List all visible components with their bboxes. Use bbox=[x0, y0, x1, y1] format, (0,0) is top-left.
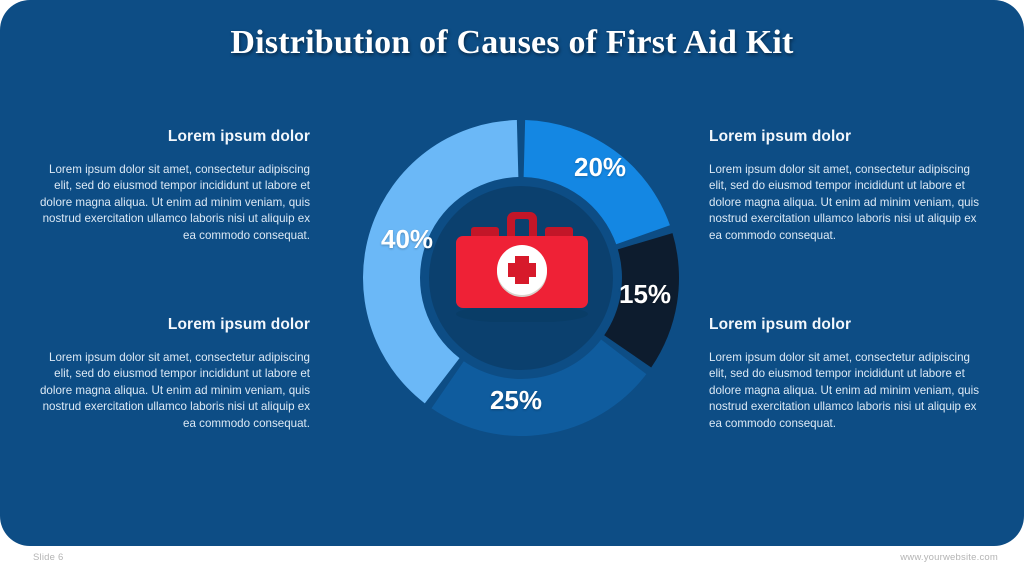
first-aid-kit-svg bbox=[449, 202, 595, 322]
slice-label-25: 25% bbox=[490, 385, 542, 416]
text-block-bottom-right: Lorem ipsum dolor Lorem ipsum dolor sit … bbox=[709, 316, 987, 432]
text-block-bottom-left: Lorem ipsum dolor Lorem ipsum dolor sit … bbox=[32, 316, 310, 432]
text-block-top-left: Lorem ipsum dolor Lorem ipsum dolor sit … bbox=[32, 128, 310, 244]
slice-label-15: 15% bbox=[619, 279, 671, 310]
website-label: www.yourwebsite.com bbox=[900, 552, 998, 563]
text-block-body: Lorem ipsum dolor sit amet, consectetur … bbox=[709, 162, 987, 244]
page-title: Distribution of Causes of First Aid Kit bbox=[0, 24, 1024, 62]
text-block-heading: Lorem ipsum dolor bbox=[32, 128, 310, 146]
text-block-heading: Lorem ipsum dolor bbox=[709, 128, 987, 146]
text-block-heading: Lorem ipsum dolor bbox=[709, 316, 987, 334]
text-block-body: Lorem ipsum dolor sit amet, consectetur … bbox=[32, 162, 310, 244]
text-block-heading: Lorem ipsum dolor bbox=[32, 316, 310, 334]
kit-handle bbox=[507, 212, 537, 236]
first-aid-kit-icon bbox=[449, 202, 595, 322]
slice-label-40: 40% bbox=[381, 224, 433, 255]
slice-label-20: 20% bbox=[574, 152, 626, 183]
text-block-body: Lorem ipsum dolor sit amet, consectetur … bbox=[32, 350, 310, 432]
text-block-body: Lorem ipsum dolor sit amet, consectetur … bbox=[709, 350, 987, 432]
slide-card: Distribution of Causes of First Aid Kit … bbox=[0, 0, 1024, 546]
slide-canvas: Distribution of Causes of First Aid Kit … bbox=[0, 0, 1024, 576]
text-block-top-right: Lorem ipsum dolor Lorem ipsum dolor sit … bbox=[709, 128, 987, 244]
slide-number-label: Slide 6 bbox=[33, 552, 63, 563]
